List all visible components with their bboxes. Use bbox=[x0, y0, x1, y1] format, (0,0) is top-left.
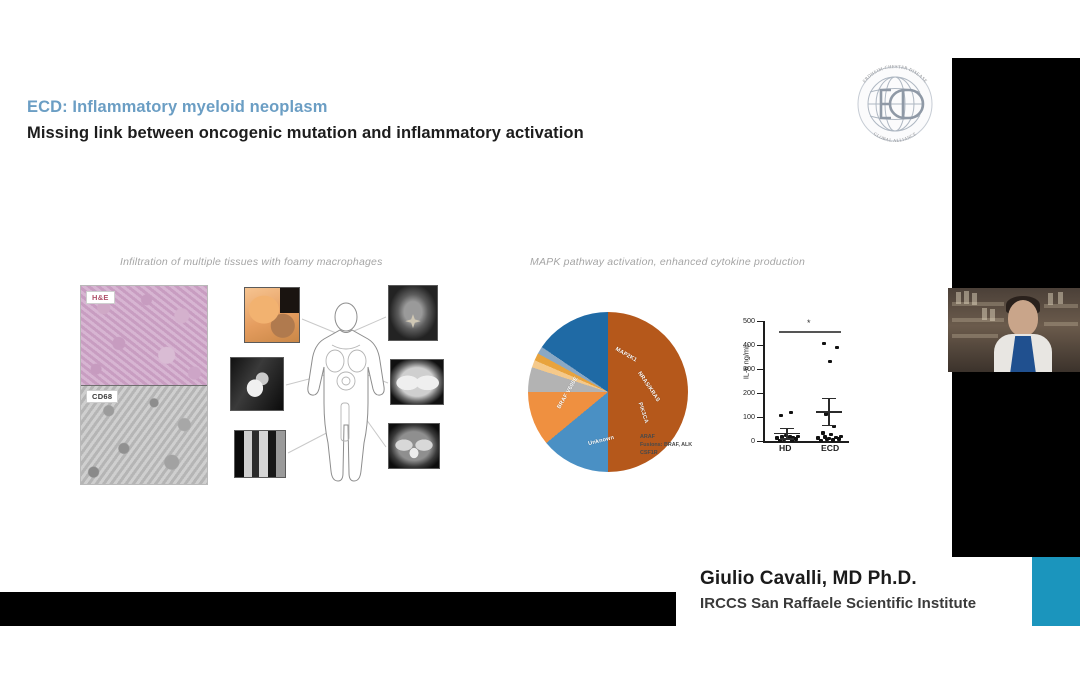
slide-title-block: ECD: Inflammatory myeloid neoplasm Missi… bbox=[27, 96, 887, 145]
histology-panel-group: H&E CD68 bbox=[80, 285, 208, 485]
pie-label-csf1r: CSF1R bbox=[640, 450, 692, 458]
y-tick-0: 0 bbox=[735, 436, 755, 445]
abdominal-ct-hairy-kidney-image bbox=[388, 423, 440, 469]
histology-cd68-panel: CD68 bbox=[81, 385, 207, 484]
error-bar-segment bbox=[822, 425, 836, 426]
scatter-point bbox=[796, 435, 799, 438]
slide-title-primary: ECD: Inflammatory myeloid neoplasm bbox=[27, 96, 887, 118]
scatter-point bbox=[789, 411, 792, 414]
caption-left: Infiltration of multiple tissues with fo… bbox=[120, 256, 383, 268]
brain-mri-image bbox=[388, 285, 438, 341]
ecd-mutation-distribution-pie: BRAF V600E MAP2K1 NRAS/KRAS PIK3CA Unkno… bbox=[528, 312, 700, 472]
long-bone-xray-image bbox=[234, 430, 286, 478]
il6-serum-levels-scatter: IL-6 ng/mL 0 100 200 300 400 500 * HD EC… bbox=[735, 315, 853, 470]
speaker-lower-third: Giulio Cavalli, MD Ph.D. IRCCS San Raffa… bbox=[676, 557, 1080, 626]
webinar-screen: ECD: Inflammatory myeloid neoplasm Missi… bbox=[0, 0, 1080, 675]
scatter-point bbox=[829, 433, 832, 436]
histology-he-panel: H&E bbox=[81, 286, 207, 385]
scatter-point bbox=[819, 439, 822, 442]
speaker-affiliation: IRCCS San Raffaele Scientific Institute bbox=[700, 595, 976, 612]
error-bar-segment bbox=[780, 438, 794, 439]
scatter-point bbox=[824, 412, 827, 415]
slide-title-secondary: Missing link between oncogenic mutation … bbox=[27, 122, 887, 145]
speaker-name: Giulio Cavalli, MD Ph.D. bbox=[700, 568, 917, 590]
histology-cd68-label: CD68 bbox=[86, 390, 118, 403]
significance-asterisk: * bbox=[807, 318, 811, 328]
caption-right: MAPK pathway activation, enhanced cytoki… bbox=[530, 256, 805, 268]
y-tick-400: 400 bbox=[735, 340, 755, 349]
scatter-point bbox=[823, 435, 826, 438]
histology-he-label: H&E bbox=[86, 291, 115, 304]
y-tick-300: 300 bbox=[735, 364, 755, 373]
cardiac-mri-image bbox=[230, 357, 284, 411]
significance-bar bbox=[779, 331, 841, 333]
histology-divider bbox=[81, 385, 207, 386]
x-category-ecd: ECD bbox=[821, 443, 839, 453]
scatter-point bbox=[822, 342, 825, 345]
error-bar-segment bbox=[786, 428, 787, 439]
video-letterbox-top-right bbox=[952, 58, 1080, 288]
scatter-point bbox=[816, 436, 819, 439]
error-bar-segment bbox=[822, 398, 836, 399]
scatter-point bbox=[827, 437, 830, 440]
ecd-global-alliance-logo: ERDHEIM-CHESTER DISEASE GLOBAL ALLIANCE bbox=[843, 52, 947, 156]
skin-xanthelasma-photo bbox=[244, 287, 300, 343]
scatter-point bbox=[779, 414, 782, 417]
video-letterbox-bottom bbox=[0, 592, 676, 626]
video-letterbox-bottom-right bbox=[952, 372, 1080, 557]
y-tick-200: 200 bbox=[735, 388, 755, 397]
scatter-point bbox=[828, 360, 831, 363]
human-body-organ-involvement-diagram bbox=[228, 275, 470, 495]
error-bar-segment bbox=[780, 428, 794, 429]
scatter-point bbox=[775, 436, 778, 439]
x-category-hd: HD bbox=[779, 443, 791, 453]
y-axis bbox=[763, 321, 765, 441]
chest-ct-image bbox=[390, 359, 444, 405]
presenter-webcam-thumbnail[interactable] bbox=[948, 288, 1080, 372]
scatter-point bbox=[835, 346, 838, 349]
pie-label-rare-group: ARAF Fusions: BRAF, ALK CSF1R bbox=[640, 434, 692, 457]
y-tick-100: 100 bbox=[735, 412, 755, 421]
pie-label-araf: ARAF bbox=[640, 434, 692, 442]
scatter-point bbox=[821, 431, 824, 434]
presentation-slide: ECD: Inflammatory myeloid neoplasm Missi… bbox=[0, 0, 952, 592]
error-bar-segment bbox=[828, 398, 829, 424]
lower-third-accent-block bbox=[1032, 557, 1080, 626]
y-tick-500: 500 bbox=[735, 316, 755, 325]
pie-label-fusions: Fusions: BRAF, ALK bbox=[640, 442, 692, 450]
scatter-point bbox=[834, 436, 837, 439]
scatter-point bbox=[839, 435, 842, 438]
